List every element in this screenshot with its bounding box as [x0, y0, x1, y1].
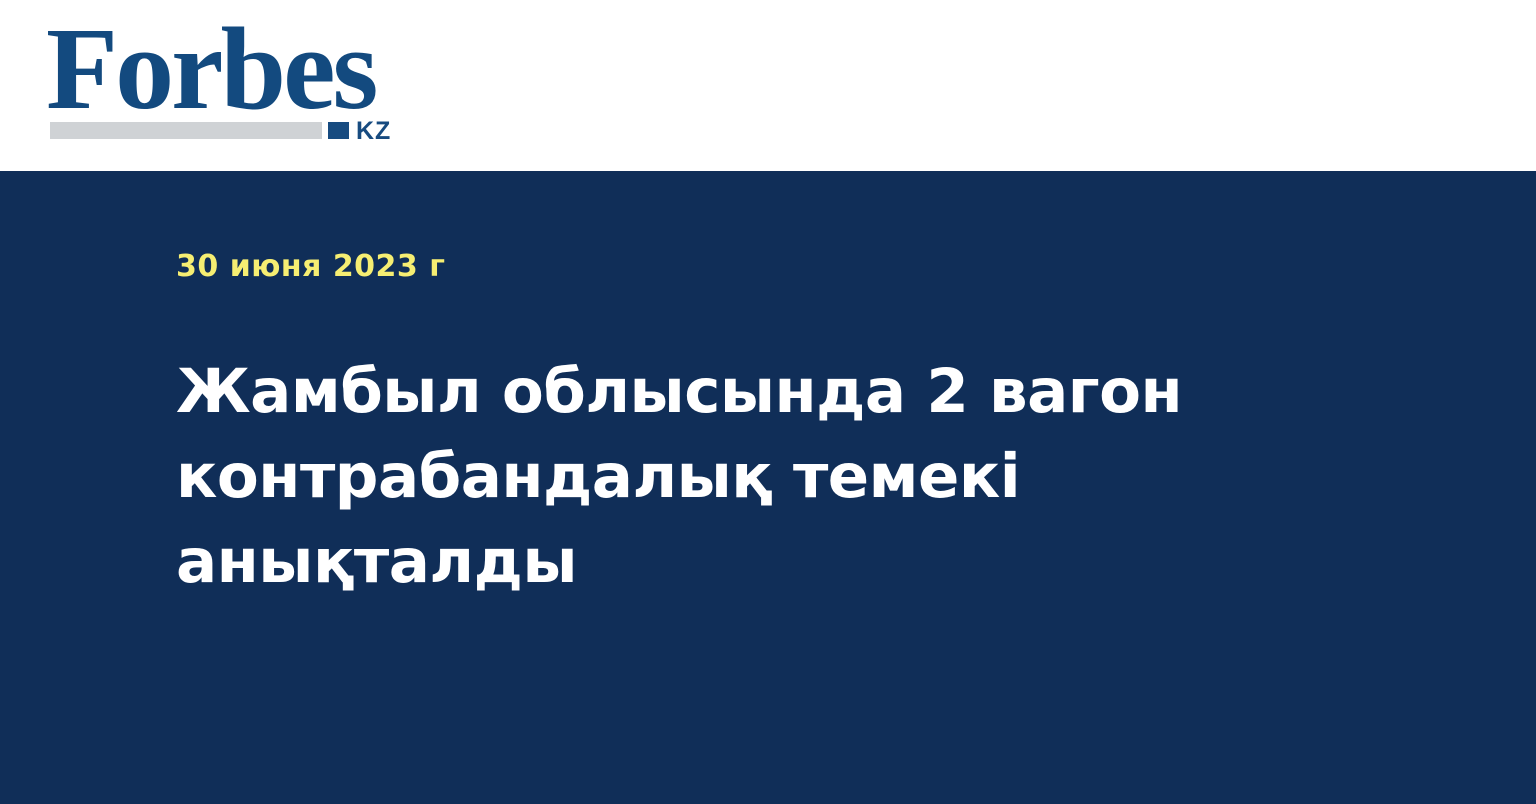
forbes-rule — [50, 122, 322, 139]
forbes-kz-logo[interactable]: Forbes KZ — [50, 22, 420, 142]
kz-suffix: KZ — [356, 119, 391, 144]
page-title: Жамбыл облысында 2 вагон контрабандалық … — [176, 349, 1236, 604]
article-hero: 30 июня 2023 г Жамбыл облысында 2 вагон … — [0, 171, 1536, 804]
article-date: 30 июня 2023 г — [176, 252, 445, 282]
forbes-square-icon — [328, 122, 349, 139]
site-header: Forbes KZ — [0, 0, 1536, 171]
forbes-wordmark: Forbes — [46, 10, 375, 128]
page-root: Forbes KZ 30 июня 2023 г Жамбыл облысынд… — [0, 0, 1536, 804]
